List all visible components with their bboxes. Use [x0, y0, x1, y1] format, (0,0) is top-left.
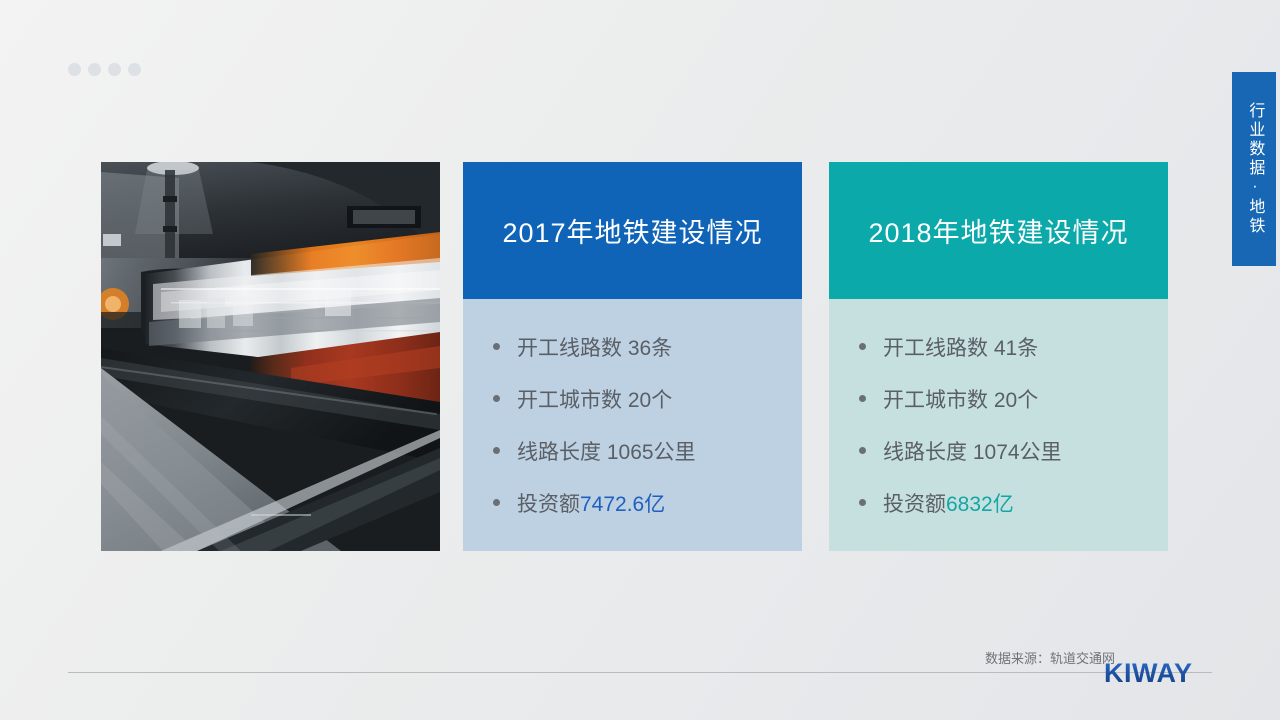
decor-dot	[88, 63, 101, 76]
bullet-dot-icon	[859, 499, 866, 506]
list-item: 线路长度 1074公里	[829, 427, 1168, 479]
card-2018-bullet-list: 开工线路数 41条 开工城市数 20个 线路长度 1074公里 投资额 6832…	[829, 323, 1168, 531]
list-item: 开工线路数 36条	[463, 323, 802, 375]
decor-dot	[128, 63, 141, 76]
list-item-label: 投资额	[517, 479, 580, 531]
bullet-dot-icon	[493, 447, 500, 454]
card-2018-body: 开工线路数 41条 开工城市数 20个 线路长度 1074公里 投资额 6832…	[829, 299, 1168, 551]
footer-divider	[68, 672, 1212, 673]
list-item-label: 开工城市数 20个	[517, 375, 672, 427]
list-item-label: 线路长度 1065公里	[517, 427, 696, 479]
list-item: 投资额 7472.6亿	[463, 479, 802, 531]
list-item: 线路长度 1065公里	[463, 427, 802, 479]
list-item: 投资额 6832亿	[829, 479, 1168, 531]
bullet-dot-icon	[859, 447, 866, 454]
decor-dots	[68, 63, 141, 76]
bullet-dot-icon	[493, 395, 500, 402]
list-item-label: 开工线路数 36条	[517, 323, 672, 375]
card-2018-title: 2018年地铁建设情况	[829, 162, 1168, 299]
decor-dot	[68, 63, 81, 76]
data-source-note: 数据来源：轨道交通网	[985, 648, 1115, 667]
section-tab-label: 行业数据·地铁	[1246, 102, 1263, 236]
kiway-logo: KIWAY	[1104, 658, 1193, 689]
list-item: 开工线路数 41条	[829, 323, 1168, 375]
subway-platform-photo	[101, 162, 440, 551]
list-item-label: 投资额	[883, 479, 946, 531]
bullet-dot-icon	[493, 499, 500, 506]
card-2017: 2017年地铁建设情况 开工线路数 36条 开工城市数 20个 线路长度 106…	[463, 162, 802, 551]
list-item: 开工城市数 20个	[829, 375, 1168, 427]
section-tab: 行业数据·地铁	[1232, 72, 1276, 266]
subway-platform-illustration	[101, 162, 440, 551]
list-item-highlight-value: 7472.6亿	[580, 479, 665, 531]
card-2017-body: 开工线路数 36条 开工城市数 20个 线路长度 1065公里 投资额 7472…	[463, 299, 802, 551]
bullet-dot-icon	[859, 343, 866, 350]
card-2017-title: 2017年地铁建设情况	[463, 162, 802, 299]
list-item-highlight-value: 6832亿	[946, 479, 1014, 531]
card-2018: 2018年地铁建设情况 开工线路数 41条 开工城市数 20个 线路长度 107…	[829, 162, 1168, 551]
list-item-label: 线路长度 1074公里	[883, 427, 1062, 479]
bullet-dot-icon	[859, 395, 866, 402]
slide-root: 行业数据·地铁	[0, 0, 1280, 720]
bullet-dot-icon	[493, 343, 500, 350]
list-item-label: 开工城市数 20个	[883, 375, 1038, 427]
list-item-label: 开工线路数 41条	[883, 323, 1038, 375]
card-2017-bullet-list: 开工线路数 36条 开工城市数 20个 线路长度 1065公里 投资额 7472…	[463, 323, 802, 531]
decor-dot	[108, 63, 121, 76]
list-item: 开工城市数 20个	[463, 375, 802, 427]
